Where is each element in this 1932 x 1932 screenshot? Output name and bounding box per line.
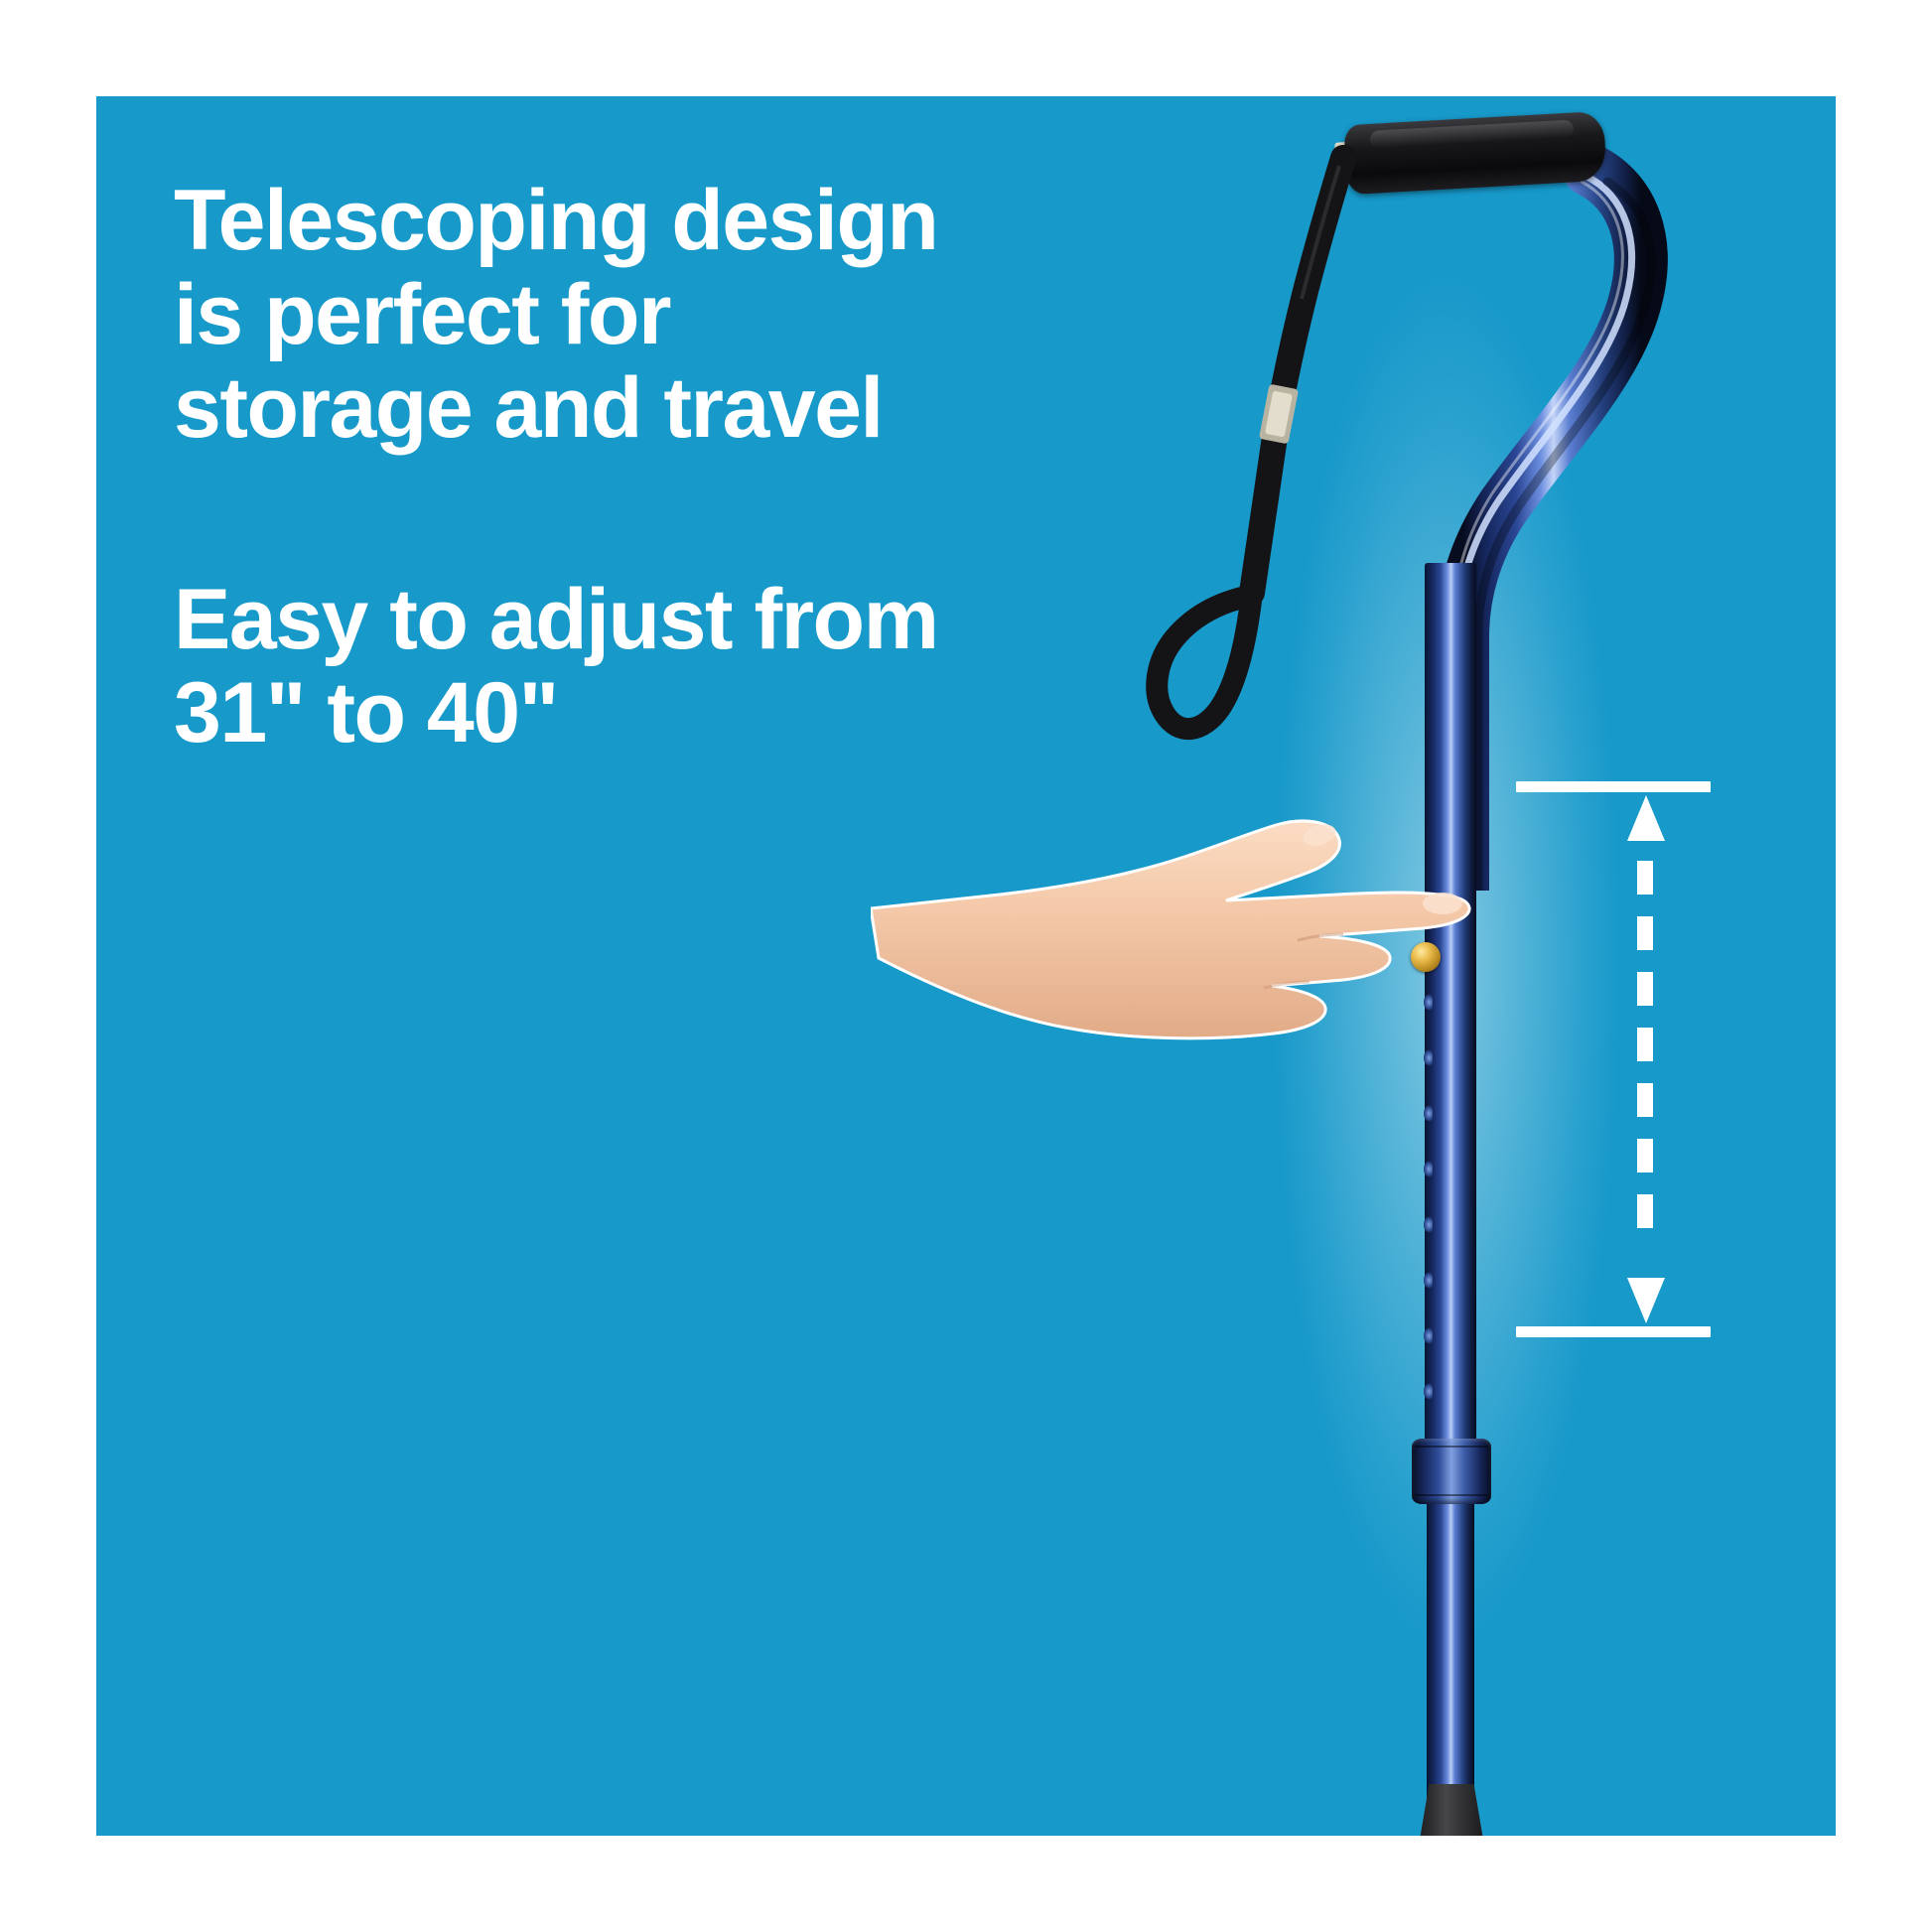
headline-line: is perfect for <box>174 268 1067 362</box>
adjustment-holes <box>1424 995 1433 1432</box>
measurement-tick-bottom <box>1516 1326 1711 1337</box>
headline-line: Easy to adjust from <box>174 573 1067 667</box>
headline-line: 31" to 40" <box>174 666 1067 760</box>
dash-segment <box>1637 1028 1653 1061</box>
measurement-dashed-line <box>1637 799 1653 1321</box>
dash-segment <box>1637 861 1653 895</box>
headline-block-one: Telescoping design is perfect for storag… <box>174 174 1067 456</box>
adjustment-hole <box>1424 1273 1433 1288</box>
dash-segment <box>1637 916 1653 950</box>
copy-spacer <box>174 456 1067 573</box>
poster-canvas: Telescoping design is perfect for storag… <box>0 0 1932 1932</box>
dash-segment <box>1637 1139 1653 1173</box>
collar-groove <box>1415 1494 1488 1496</box>
adjustment-hole <box>1424 1384 1433 1399</box>
marketing-copy: Telescoping design is perfect for storag… <box>174 174 1067 760</box>
adjustment-hole <box>1424 1162 1433 1176</box>
height-measurement <box>1516 781 1734 1337</box>
headline-block-two: Easy to adjust from 31" to 40" <box>174 573 1067 760</box>
dash-segment <box>1637 1083 1653 1117</box>
rubber-tip <box>1405 1784 1498 1836</box>
adjustment-hole <box>1424 1050 1433 1065</box>
adjustment-hole <box>1424 1328 1433 1343</box>
dash-segment <box>1637 1194 1653 1228</box>
pointing-hand <box>871 791 1486 1049</box>
product-image <box>990 96 1836 1836</box>
headline-line: storage and travel <box>174 361 1067 456</box>
telescoping-collar <box>1412 1439 1491 1504</box>
adjustment-hole <box>1424 1106 1433 1121</box>
arrow-down-icon <box>1627 1278 1665 1323</box>
headline-line: Telescoping design <box>174 174 1067 268</box>
dash-segment <box>1637 972 1653 1006</box>
measurement-tick-top <box>1516 781 1711 792</box>
cane-shaft-lower <box>1427 1454 1474 1812</box>
adjustment-hole <box>1424 1217 1433 1232</box>
blue-panel: Telescoping design is perfect for storag… <box>96 96 1836 1836</box>
collar-groove <box>1415 1446 1488 1448</box>
